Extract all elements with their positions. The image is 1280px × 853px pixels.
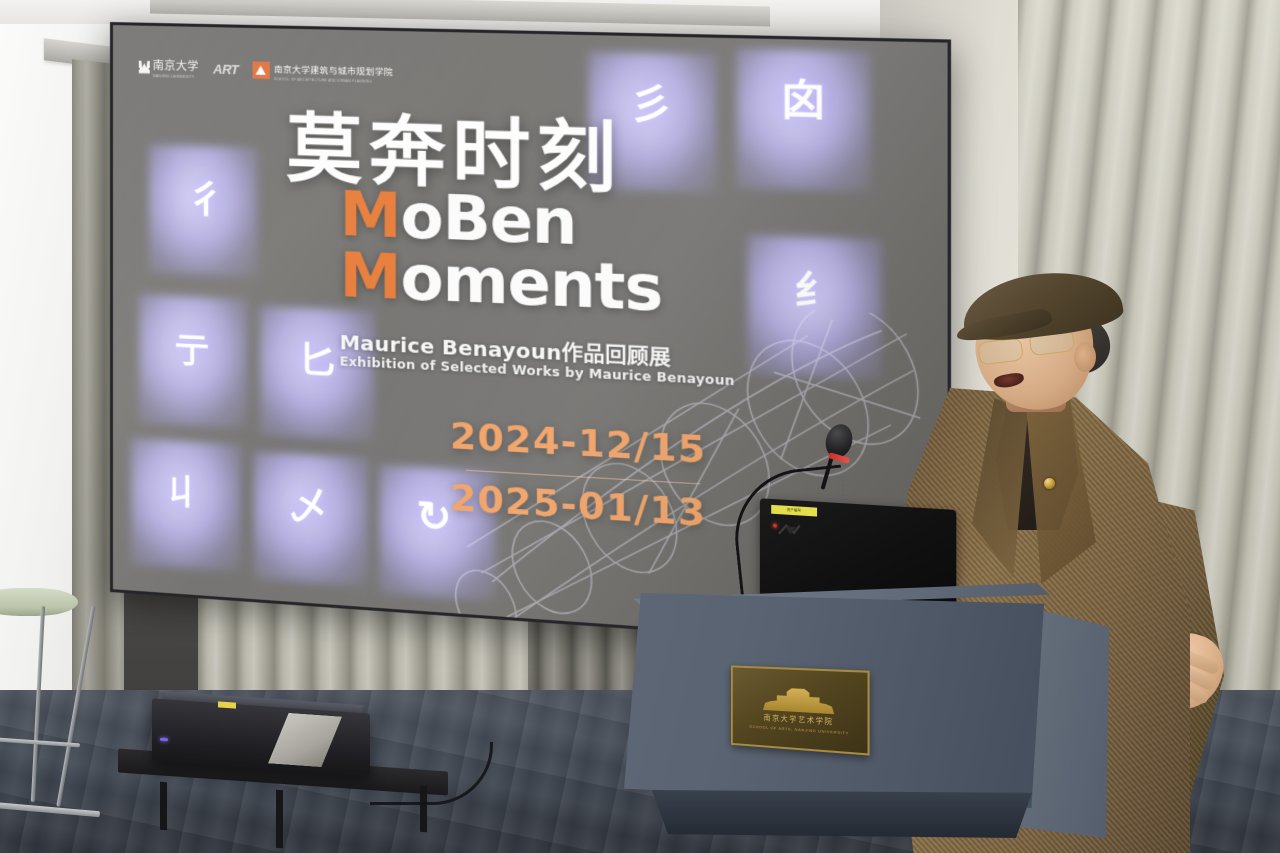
presentation-photo-scene: 彳 亍 匕 丩 乄 ↻ 彡 囟 纟 [0,0,1280,853]
laptop-brand-logo-icon [777,523,802,537]
artwork-glyph: 丩 [165,476,199,512]
title-en-line2-rest: oments [400,242,662,326]
cart-leg [160,782,167,830]
university-gate-icon [763,684,834,714]
laptop-asset-sticker: 资产编号 [771,505,817,517]
lapel-pin-icon [1044,478,1055,489]
artwork-glyph: 匕 [298,342,335,380]
art-logo: ART [213,61,238,77]
lectern-plaque: 南京大学艺术学院 SCHOOL OF ARTS, NANJING UNIVERS… [731,665,870,755]
artwork-glyph: 亍 [175,334,209,370]
architecture-triangle-icon [253,61,270,79]
artwork-glyph: 纟 [794,270,837,312]
plaque-text-en: SCHOOL OF ARTS, NANJING UNIVERSITY [749,724,849,736]
projector-power-led-icon [160,738,168,742]
poster-title-en-line2: Moments [340,247,663,320]
nju-logo-cn: 南京大学 [153,60,199,73]
saup-logo-en: SCHOOL OF ARCHITECTURE AND URBAN PLANNIN… [274,77,393,84]
nju-mark-icon [139,60,150,73]
artwork-glyph: 彡 [629,84,673,127]
artwork-glyph: 乄 [290,488,327,527]
nju-logo-en: NANJING UNIVERSITY [153,74,199,79]
projector-sticker [218,701,236,708]
accent-letter-m: M [340,240,401,314]
nanjing-university-logo: 南京大学 NANJING UNIVERSITY [139,56,199,80]
lectern-base [640,790,1040,838]
school-of-architecture-logo: 南京大学建筑与城市规划学院 SCHOOL OF ARCHITECTURE AND… [253,58,394,84]
artwork-glyph: ↻ [416,496,451,539]
artwork-glyph: 囟 [781,79,826,123]
artwork-glyph: 彳 [187,180,225,220]
cart-leg [276,790,283,848]
saup-logo-cn: 南京大学建筑与城市规划学院 [274,64,393,77]
screen-logo-row: 南京大学 NANJING UNIVERSITY ART 南京大学建筑与城市规划学… [139,56,393,85]
